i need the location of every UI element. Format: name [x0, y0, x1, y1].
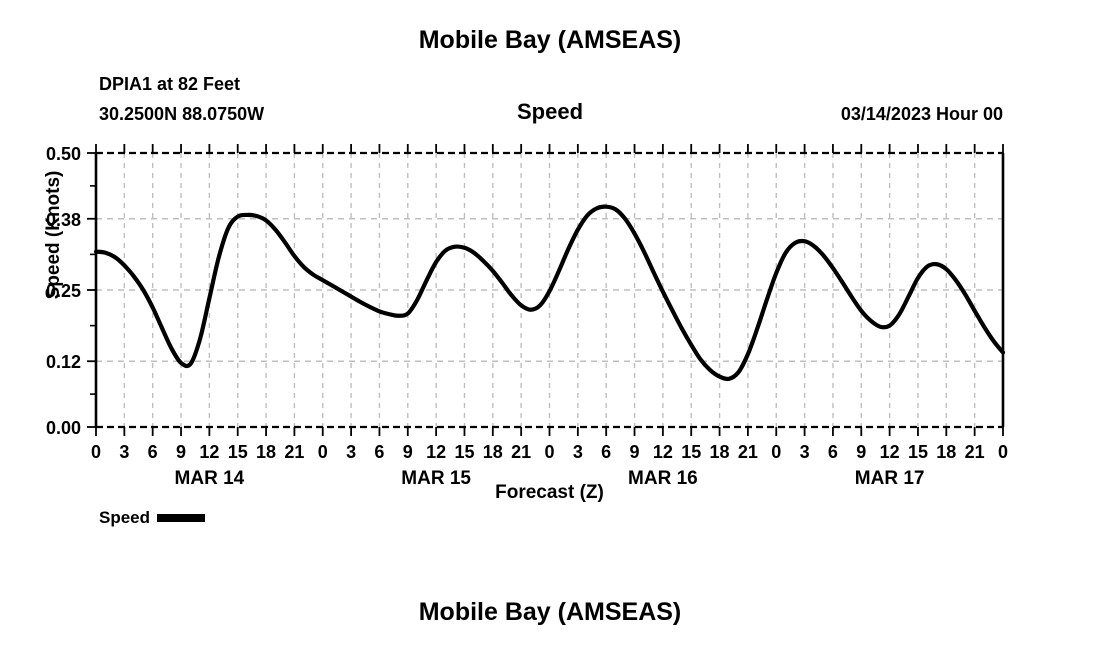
- svg-text:0: 0: [91, 442, 101, 462]
- svg-text:21: 21: [284, 442, 304, 462]
- y-axis-title: Speed (Knots): [43, 135, 65, 335]
- svg-text:21: 21: [965, 442, 985, 462]
- x-axis-title: Forecast (Z): [96, 482, 1003, 504]
- svg-text:12: 12: [426, 442, 446, 462]
- svg-text:15: 15: [228, 442, 248, 462]
- svg-text:21: 21: [511, 442, 531, 462]
- svg-text:0: 0: [318, 442, 328, 462]
- legend-swatch-speed: [157, 514, 205, 522]
- svg-text:18: 18: [936, 442, 956, 462]
- svg-text:0.00: 0.00: [46, 418, 81, 438]
- svg-text:0: 0: [544, 442, 554, 462]
- svg-text:6: 6: [374, 442, 384, 462]
- footer-title: Mobile Bay (AMSEAS): [0, 598, 1100, 627]
- svg-text:3: 3: [119, 442, 129, 462]
- x-axis-tick-labels: 0369121518210369121518210369121518210369…: [91, 442, 1008, 462]
- svg-text:3: 3: [573, 442, 583, 462]
- svg-text:12: 12: [880, 442, 900, 462]
- svg-text:18: 18: [483, 442, 503, 462]
- svg-text:3: 3: [346, 442, 356, 462]
- svg-text:9: 9: [176, 442, 186, 462]
- svg-text:0: 0: [771, 442, 781, 462]
- svg-text:12: 12: [653, 442, 673, 462]
- svg-text:15: 15: [908, 442, 928, 462]
- svg-text:15: 15: [681, 442, 701, 462]
- svg-text:6: 6: [601, 442, 611, 462]
- svg-text:21: 21: [738, 442, 758, 462]
- svg-text:15: 15: [454, 442, 474, 462]
- svg-text:12: 12: [199, 442, 219, 462]
- svg-text:6: 6: [148, 442, 158, 462]
- svg-text:18: 18: [256, 442, 276, 462]
- axis-ticks: [87, 144, 1003, 436]
- svg-text:9: 9: [403, 442, 413, 462]
- svg-text:9: 9: [856, 442, 866, 462]
- svg-text:0.12: 0.12: [46, 352, 81, 372]
- svg-text:0: 0: [998, 442, 1008, 462]
- svg-text:6: 6: [828, 442, 838, 462]
- svg-text:9: 9: [630, 442, 640, 462]
- svg-text:18: 18: [710, 442, 730, 462]
- speed-line-chart: 0.000.120.250.380.50 0369121518210369121…: [0, 0, 1100, 650]
- chart-legend: Speed: [99, 508, 205, 528]
- chart-page: Mobile Bay (AMSEAS) DPIA1 at 82 Feet 30.…: [0, 0, 1100, 650]
- legend-label-speed: Speed: [99, 508, 150, 528]
- svg-text:3: 3: [800, 442, 810, 462]
